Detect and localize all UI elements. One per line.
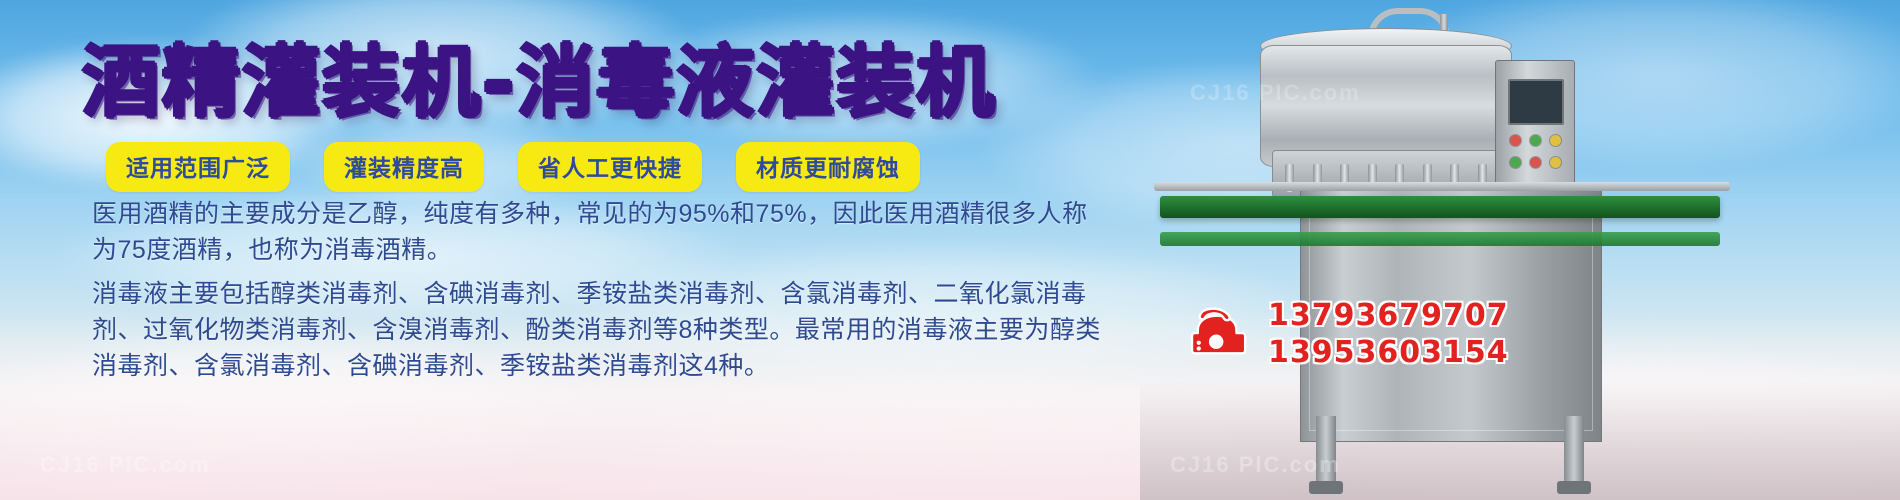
- contact-block[interactable]: 13793679707 13953603154: [1190, 298, 1509, 370]
- phone-number-list: 13793679707 13953603154: [1268, 298, 1509, 370]
- machine-button: [1530, 135, 1541, 146]
- phone-number-secondary[interactable]: 13953603154: [1268, 335, 1509, 370]
- machine-conveyor-belt: [1160, 196, 1720, 218]
- feature-tag-accuracy: 灌装精度高: [324, 142, 484, 192]
- telephone-icon: [1190, 305, 1252, 363]
- machine-button: [1550, 157, 1561, 168]
- phone-number-primary[interactable]: 13793679707: [1268, 298, 1509, 333]
- page-title: 酒精灌装机-消毒液灌装机: [82, 44, 996, 122]
- feature-tag-corrosion: 材质更耐腐蚀: [736, 142, 920, 192]
- machine-leg: [1564, 416, 1584, 482]
- machine-conveyor-belt-lower: [1160, 232, 1720, 246]
- machine-button: [1510, 157, 1521, 168]
- machine-drum: [1260, 45, 1512, 167]
- description-paragraph-disinfectant: 消毒液主要包括醇类消毒剂、含碘消毒剂、季铵盐类消毒剂、含氯消毒剂、二氧化氯消毒剂…: [92, 276, 1102, 384]
- machine-foot: [1309, 481, 1343, 494]
- machine-button: [1510, 135, 1521, 146]
- machine-button: [1550, 135, 1561, 146]
- watermark-bottom-left: CJ16 PIC.com: [40, 452, 211, 478]
- description-block: 医用酒精的主要成分是乙醇，纯度有多种，常见的为95%和75%，因此医用酒精很多人…: [92, 196, 1102, 386]
- product-image-filling-machine: [1140, 0, 1900, 500]
- feature-tag-list: 适用范围广泛 灌装精度高 省人工更快捷 材质更耐腐蚀: [106, 142, 920, 192]
- feature-tag-scope: 适用范围广泛: [106, 142, 290, 192]
- description-paragraph-alcohol: 医用酒精的主要成分是乙醇，纯度有多种，常见的为95%和75%，因此医用酒精很多人…: [92, 196, 1102, 268]
- machine-leg: [1316, 416, 1336, 482]
- promo-banner: 酒精灌装机-消毒液灌装机 适用范围广泛 灌装精度高 省人工更快捷 材质更耐腐蚀 …: [0, 0, 1900, 500]
- machine-rail: [1154, 182, 1730, 191]
- machine-screen: [1508, 79, 1564, 125]
- machine-button: [1530, 157, 1541, 168]
- feature-tag-labor-saving: 省人工更快捷: [518, 142, 702, 192]
- machine-foot: [1557, 481, 1591, 494]
